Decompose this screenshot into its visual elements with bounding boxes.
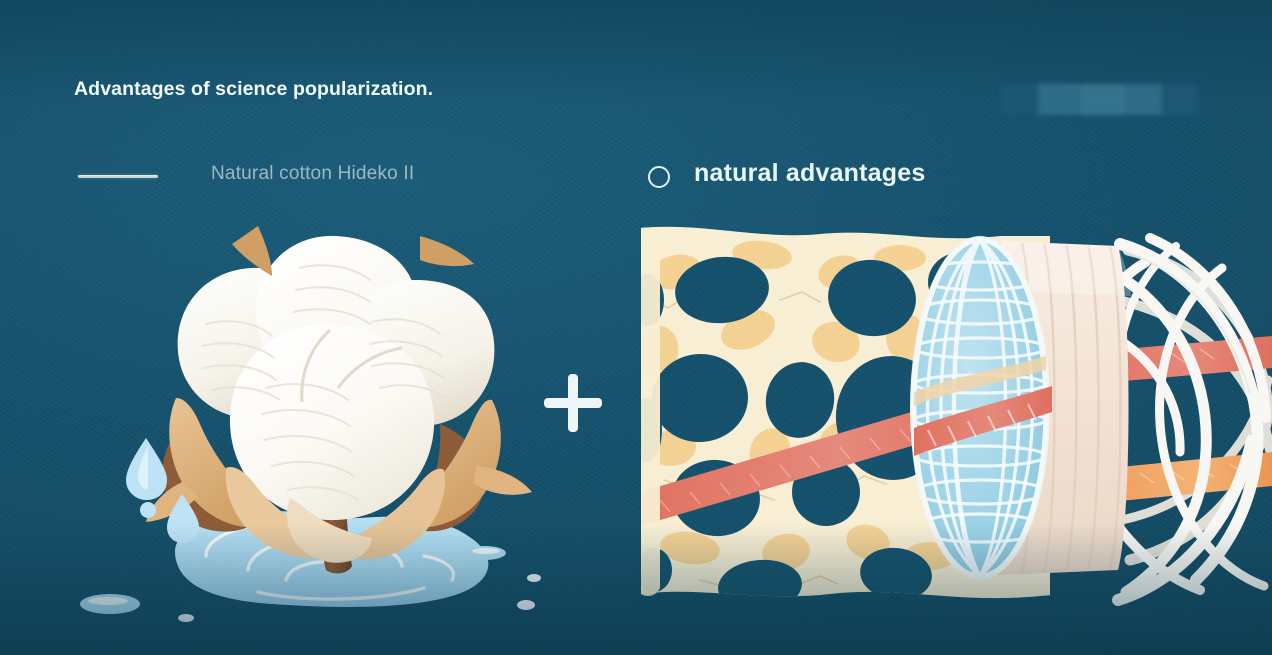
legend-circle-marker	[648, 166, 670, 188]
plus-sign-icon	[544, 374, 602, 432]
legend-label-natural-advantages: natural advantages	[694, 159, 925, 188]
page-title: Advantages of science popularization.	[74, 78, 433, 101]
slide-canvas: Advantages of science popularization. Na…	[0, 0, 1272, 655]
legend-label-natural-cotton: Natural cotton Hideko II	[211, 163, 414, 185]
redaction-segment-1	[1038, 84, 1082, 115]
redaction-segment-2	[1082, 84, 1124, 115]
redaction-segment-3	[1124, 84, 1162, 115]
redaction-segment-4	[1162, 84, 1198, 115]
blurred-text-block	[1000, 84, 1198, 115]
legend-line-marker	[78, 175, 158, 178]
redaction-segment-0	[1000, 84, 1038, 115]
